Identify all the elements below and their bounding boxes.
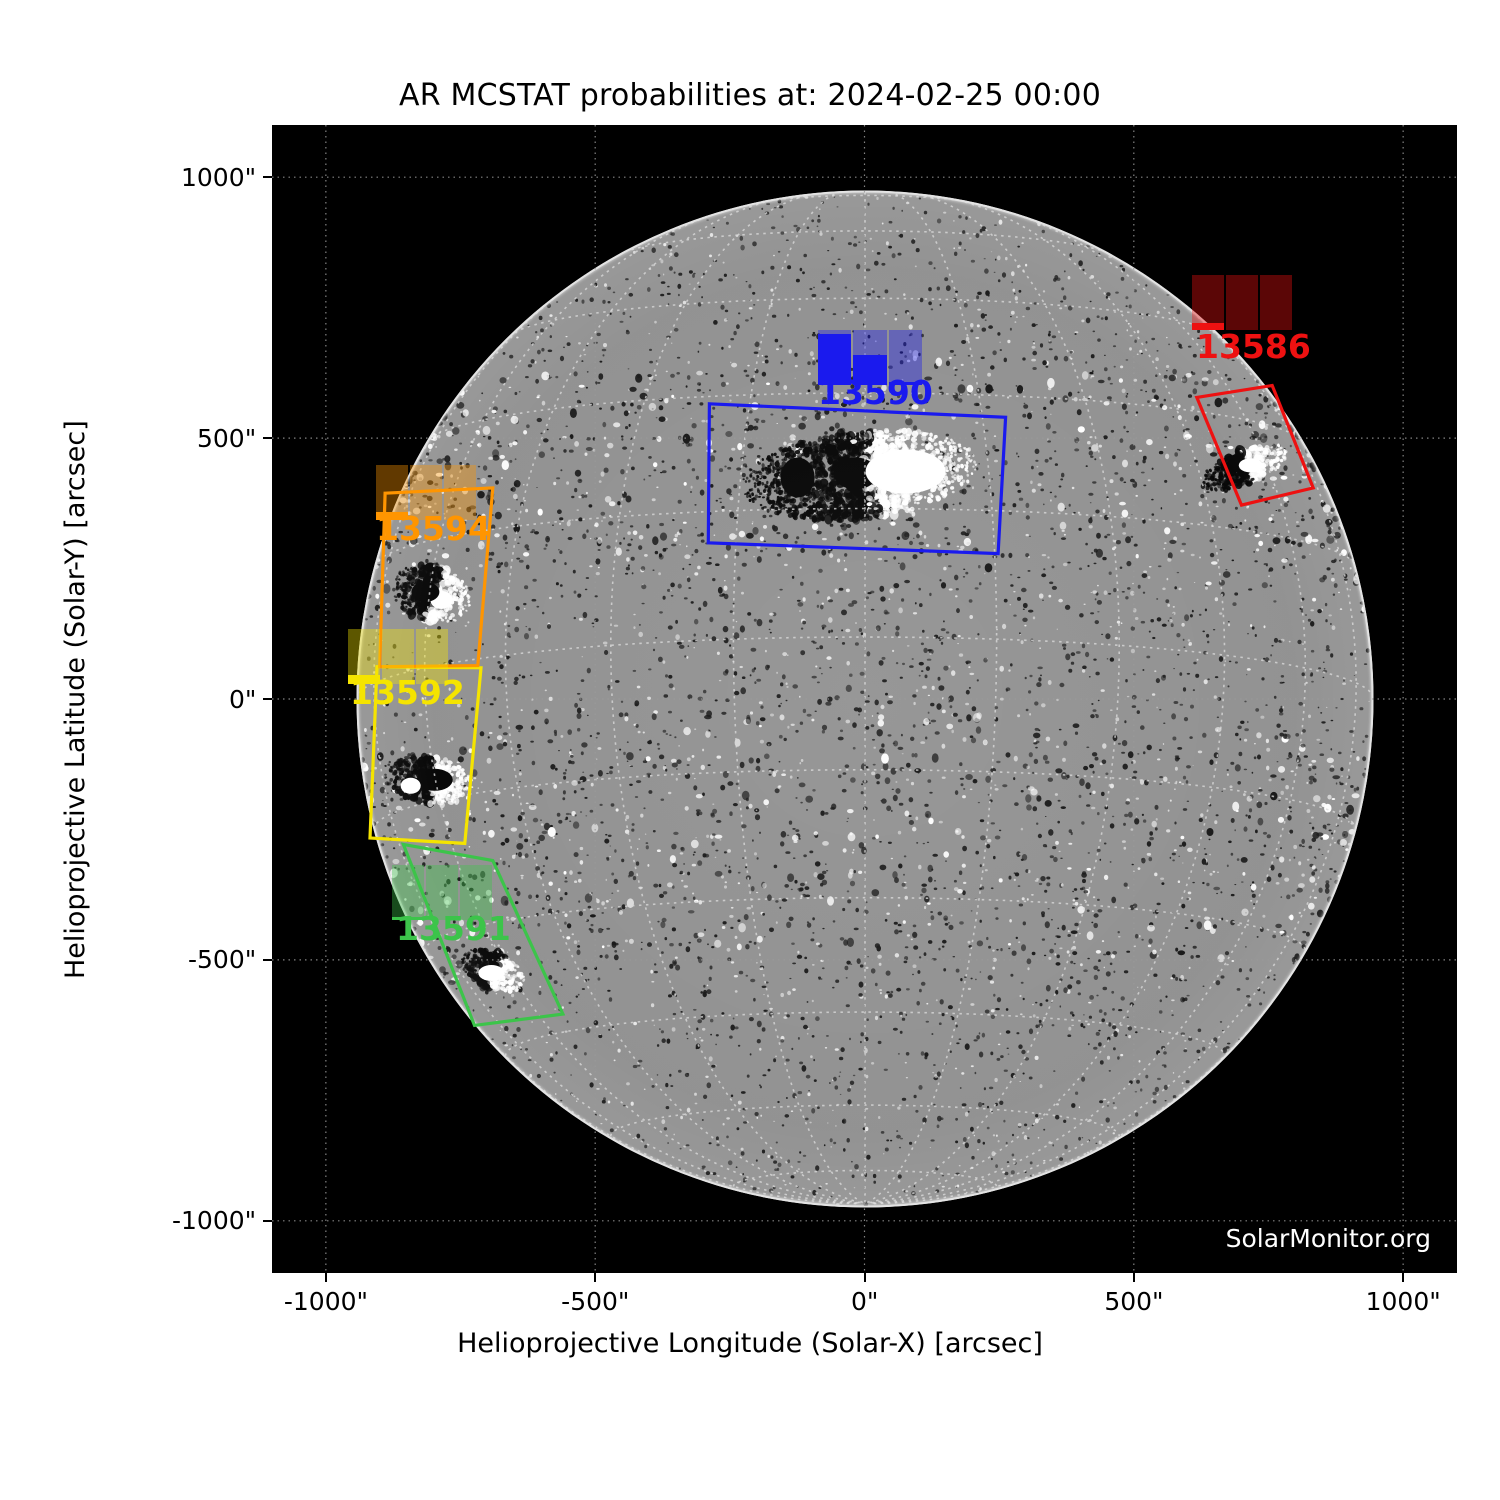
ar-label-13594: 13594 — [376, 512, 491, 545]
x-tick — [594, 1273, 596, 1282]
chart-title: AR MCSTAT probabilities at: 2024-02-25 0… — [0, 78, 1500, 113]
y-tick-label: -1000" — [172, 1206, 256, 1235]
y-tick-label: 1000" — [181, 163, 256, 192]
ar-label-13590: 13590 — [818, 376, 933, 409]
y-tick-label: 0" — [229, 685, 256, 714]
ar-probability-bars-13586 — [1192, 275, 1292, 330]
x-tick — [864, 1273, 866, 1282]
probability-bar-13586-X — [1260, 275, 1292, 330]
y-tick — [263, 959, 272, 961]
x-tick — [1402, 1273, 1404, 1282]
y-tick — [263, 176, 272, 178]
probability-bar-13586-C — [1192, 275, 1224, 330]
y-tick-label: 500" — [197, 424, 256, 453]
y-axis-title: Helioprojective Latitude (Solar-Y) [arcs… — [60, 420, 91, 979]
ar-label-13586: 13586 — [1196, 330, 1311, 363]
x-axis-title: Helioprojective Longitude (Solar-X) [arc… — [0, 1328, 1500, 1359]
x-tick-label: -1000" — [284, 1287, 368, 1316]
x-tick-label: 0" — [851, 1287, 878, 1316]
ar-label-13592: 13592 — [350, 676, 465, 709]
y-tick — [263, 1220, 272, 1222]
x-tick — [325, 1273, 327, 1282]
bar-background — [1192, 275, 1224, 330]
x-tick-label: 1000" — [1366, 1287, 1441, 1316]
x-tick — [1133, 1273, 1135, 1282]
probability-bar-13586-M — [1226, 275, 1258, 330]
x-tick-label: 500" — [1104, 1287, 1163, 1316]
ar-label-13591: 13591 — [396, 912, 511, 945]
x-tick-label: -500" — [561, 1287, 629, 1316]
figure: AR MCSTAT probabilities at: 2024-02-25 0… — [0, 0, 1500, 1500]
bar-background — [1226, 275, 1258, 330]
y-tick — [263, 437, 272, 439]
bar-background — [1260, 275, 1292, 330]
plot-area: 1359013586135941359213591 SolarMonitor.o… — [272, 125, 1457, 1273]
y-tick-label: -500" — [188, 945, 256, 974]
y-tick — [263, 698, 272, 700]
watermark: SolarMonitor.org — [1226, 1224, 1431, 1253]
